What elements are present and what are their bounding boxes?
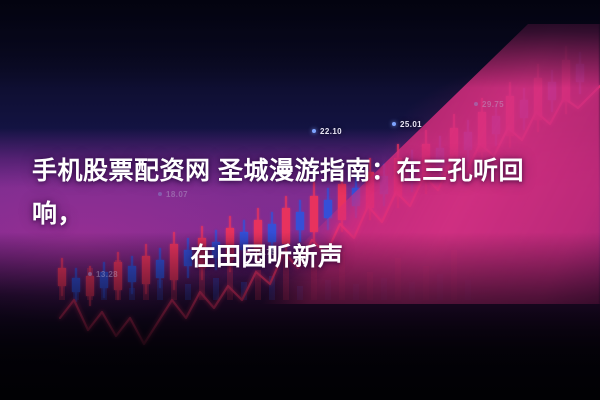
- banner-image: 13.2818.0718.7522.1025.0129.75 手机股票配资网 圣…: [0, 0, 600, 400]
- price-label: 22.10: [312, 127, 342, 136]
- price-label: 13.28: [88, 270, 118, 279]
- bottom-vignette: [0, 0, 600, 400]
- price-label: 29.75: [474, 100, 504, 109]
- price-label: 18.07: [158, 190, 188, 199]
- price-label: 18.75: [246, 248, 276, 257]
- price-label: 25.01: [392, 120, 422, 129]
